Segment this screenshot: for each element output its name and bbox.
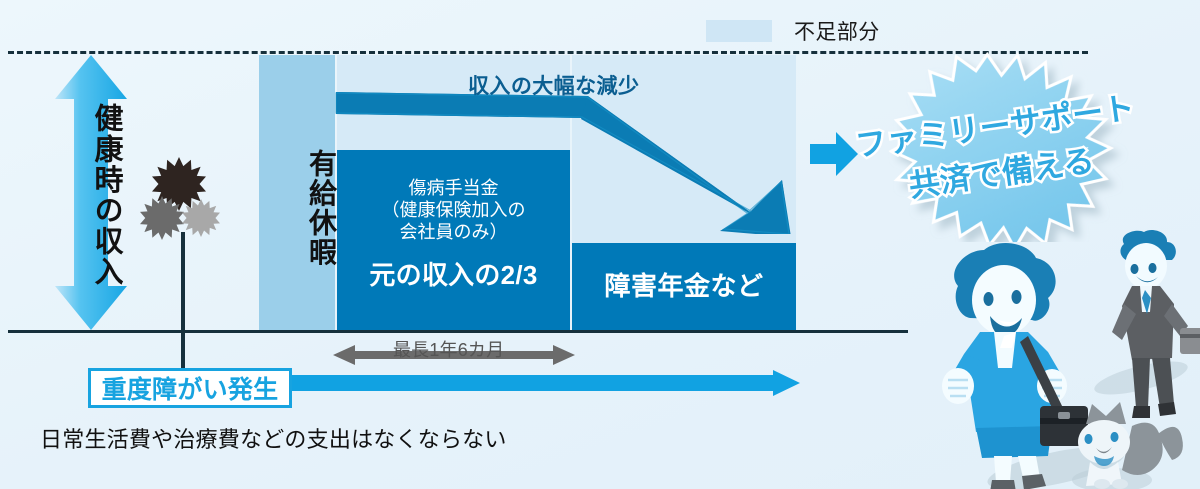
legend: 不足部分 <box>706 16 880 46</box>
baseline-axis <box>8 330 908 333</box>
declining-arrow-icon <box>330 84 800 234</box>
duration-label: 最長1年6カ月 <box>393 336 504 362</box>
sickness-amount: 元の収入の2/3 <box>337 244 570 292</box>
column-paid-leave-label: 有給休暇 <box>259 149 335 267</box>
column-paid-leave: 有給休暇 <box>259 55 335 331</box>
legend-swatch-shortfall <box>706 20 772 42</box>
cta-starburst-badge[interactable] <box>852 52 1142 242</box>
footnote-text: 日常生活費や治療費などの支出はなくならない <box>40 422 507 454</box>
event-marker-line <box>181 232 185 332</box>
pension-label: 障害年金など <box>572 243 796 303</box>
column-disability-pension: 障害年金など <box>572 243 796 331</box>
right-arrow-icon <box>810 130 858 178</box>
event-label-box: 重度障がい発生 <box>88 368 292 408</box>
timeline-arrow-icon <box>285 370 800 396</box>
running-family-illustration <box>936 228 1200 489</box>
burst-icon-mid <box>140 196 184 240</box>
legend-label-shortfall: 不足部分 <box>794 16 880 46</box>
burst-icon-light <box>182 199 220 237</box>
decline-label: 収入の大幅な減少 <box>468 70 639 100</box>
event-label-text: 重度障がい発生 <box>102 370 279 406</box>
income-arrow-label: 健康時の収入 <box>62 85 120 305</box>
diagram-canvas: 不足部分 有給休暇 傷病手当金 （健康保険加入の 会社員のみ） 元の収入の2/3… <box>0 0 1200 489</box>
